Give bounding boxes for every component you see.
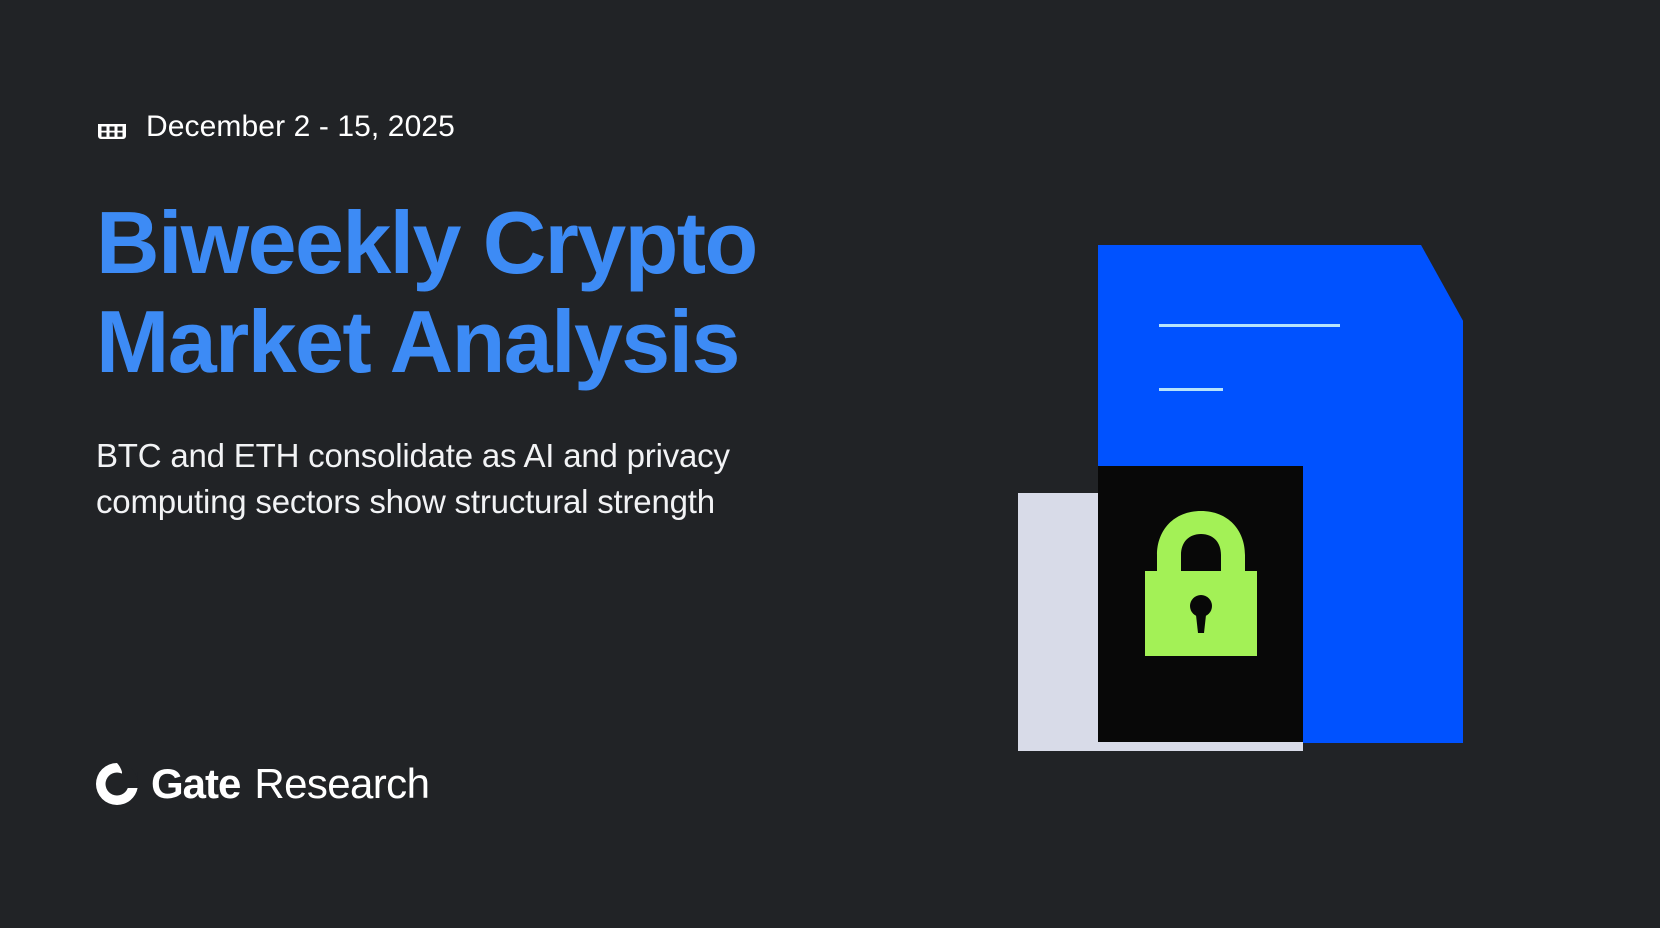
- document-text-line-1: [1159, 324, 1340, 327]
- page-subtitle-line-1: BTC and ETH consolidate as AI and privac…: [96, 437, 730, 474]
- black-square-shape: [1098, 466, 1303, 742]
- hero-text-column: December 2 - 15, 2025 Biweekly CryptoMar…: [96, 104, 996, 524]
- page-title-line-2: Market Analysis: [96, 292, 739, 391]
- poster-canvas: December 2 - 15, 2025 Biweekly CryptoMar…: [0, 0, 1660, 928]
- document-text-line-2: [1159, 388, 1223, 391]
- padlock-icon: [1141, 511, 1261, 656]
- page-title: Biweekly CryptoMarket Analysis: [96, 194, 896, 391]
- document-shape: [1098, 245, 1463, 743]
- calendar-icon: [96, 111, 128, 143]
- date-row: December 2 - 15, 2025: [96, 104, 996, 150]
- page-title-line-1: Biweekly Crypto: [96, 193, 757, 292]
- brand-wordmark: Gate Research: [151, 763, 429, 805]
- gray-square-shape: [1018, 493, 1303, 751]
- page-subtitle: BTC and ETH consolidate as AI and privac…: [96, 433, 926, 524]
- page-subtitle-line-2: computing sectors show structural streng…: [96, 483, 715, 520]
- gate-logo-mark-icon: [96, 763, 138, 805]
- brand-product-label: Research: [254, 763, 429, 805]
- date-range-label: December 2 - 15, 2025: [146, 112, 455, 142]
- brand-name-label: Gate: [151, 763, 240, 805]
- brand-lockup: Gate Research: [96, 761, 429, 807]
